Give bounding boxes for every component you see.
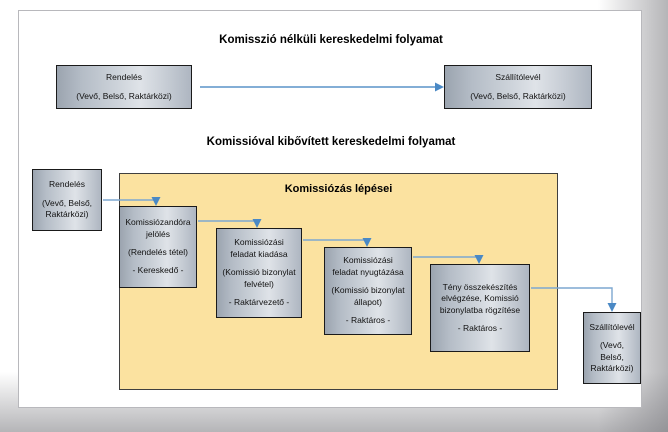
arrow-step1-to-step2	[198, 219, 262, 228]
arrow-step4-to-delivery	[531, 288, 617, 312]
connector-layer	[19, 11, 642, 408]
arrow-simple-flow	[200, 83, 444, 92]
diagram-page: Komisszió nélküli kereskedelmi folyamat …	[18, 10, 642, 408]
screenshot-canvas: Komisszió nélküli kereskedelmi folyamat …	[0, 0, 668, 432]
arrow-order-to-step1	[103, 197, 161, 206]
arrow-step3-to-step4	[413, 255, 484, 264]
arrow-step2-to-step3	[303, 238, 372, 247]
